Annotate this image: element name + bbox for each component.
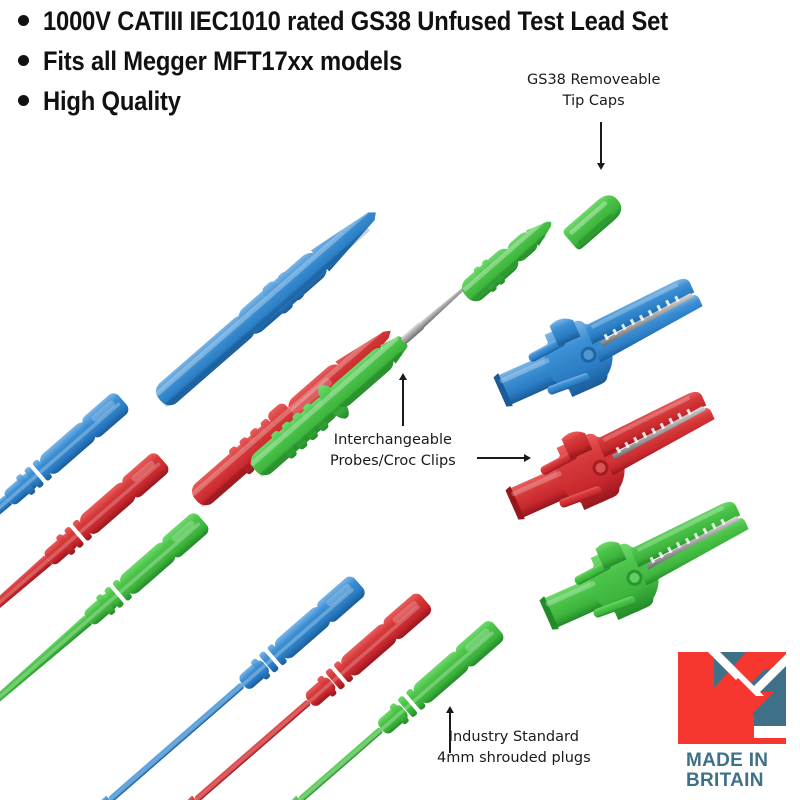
callout-tip-caps-line2: Tip Caps: [527, 91, 660, 112]
product-marketing-image: 1000V CATIII IEC1010 rated GS38 Unfused …: [0, 0, 800, 800]
leader-line-plugs: [449, 713, 451, 753]
logo-red-bottom-bar: [678, 714, 754, 744]
green-tip-cap-capped: [456, 211, 561, 308]
wordmark-line1: MADE IN: [686, 751, 786, 771]
feature-label: 1000V CATIII IEC1010 rated GS38 Unfused …: [43, 6, 668, 36]
bullet-point-icon: [18, 95, 29, 106]
arrowhead-probes-right: [524, 454, 531, 462]
callout-probes-line2: Probes/Croc Clips: [330, 451, 456, 472]
arrowhead-plugs: [446, 706, 454, 713]
callout-plugs-line1: Industry Standard: [437, 727, 591, 748]
made-in-britain-wordmark: MADE IN BRITAIN: [678, 751, 786, 791]
arrowhead-tip-caps: [597, 163, 605, 170]
callout-plugs-line2: 4mm shrouded plugs: [437, 748, 591, 769]
callout-tip-caps: GS38 Removeable Tip Caps: [527, 70, 660, 112]
callout-shrouded-plugs: Industry Standard 4mm shrouded plugs: [437, 727, 591, 769]
bullet-point-icon: [18, 15, 29, 26]
bullet-point-icon: [18, 55, 29, 66]
leader-line-tip-caps: [600, 122, 602, 164]
callout-probes-croc-clips: Interchangeable Probes/Croc Clips: [330, 430, 456, 472]
wordmark-line2: BRITAIN: [686, 771, 786, 791]
leader-line-probes-up: [402, 380, 404, 426]
callout-tip-caps-line1: GS38 Removeable: [527, 70, 660, 91]
green-croc-clip: [529, 487, 761, 646]
callout-probes-line1: Interchangeable: [330, 430, 456, 451]
leader-line-probes-right: [477, 457, 525, 459]
arrowhead-probes-up: [399, 373, 407, 380]
feature-label: Fits all Megger MFT17xx models: [43, 46, 402, 76]
green-plug-upper: [0, 510, 211, 728]
green-tip-cap-loose: [562, 190, 627, 251]
made-in-britain-mark-icon: [678, 652, 786, 744]
feature-item: 1000V CATIII IEC1010 rated GS38 Unfused …: [18, 6, 758, 36]
feature-label: High Quality: [43, 86, 181, 116]
made-in-britain-logo: MADE IN BRITAIN: [678, 652, 786, 788]
red-plug-lower: [157, 591, 434, 800]
